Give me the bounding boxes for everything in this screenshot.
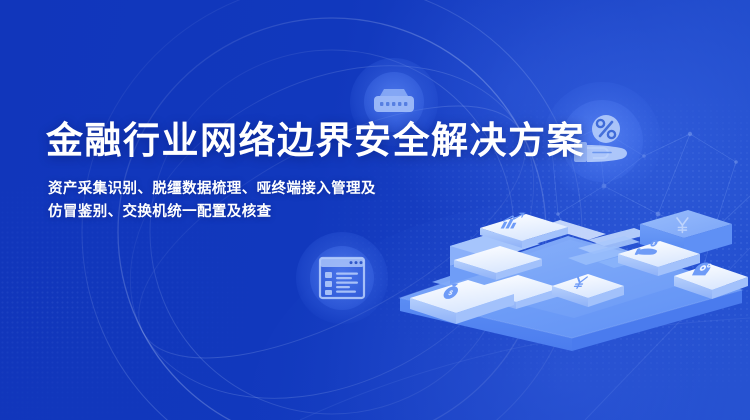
page-subtitle: 资产采集识别、脱缰数据梳理、哑终端接入管理及 仿冒鉴别、交换机统一配置及核查 — [48, 178, 516, 224]
subtitle-line-1: 资产采集识别、脱缰数据梳理、哑终端接入管理及 — [48, 178, 516, 201]
document-badge — [296, 232, 388, 324]
router-icon — [371, 85, 417, 119]
hero-text-block: 金融行业网络边界安全解决方案 资产采集识别、脱缰数据梳理、哑终端接入管理及 仿冒… — [46, 118, 516, 224]
checklist-window-icon — [318, 256, 366, 300]
hero-banner: $ $ — [0, 0, 750, 420]
page-title: 金融行业网络边界安全解决方案 — [46, 118, 516, 164]
subtitle-line-2: 仿冒鉴别、交换机统一配置及核查 — [48, 201, 516, 224]
